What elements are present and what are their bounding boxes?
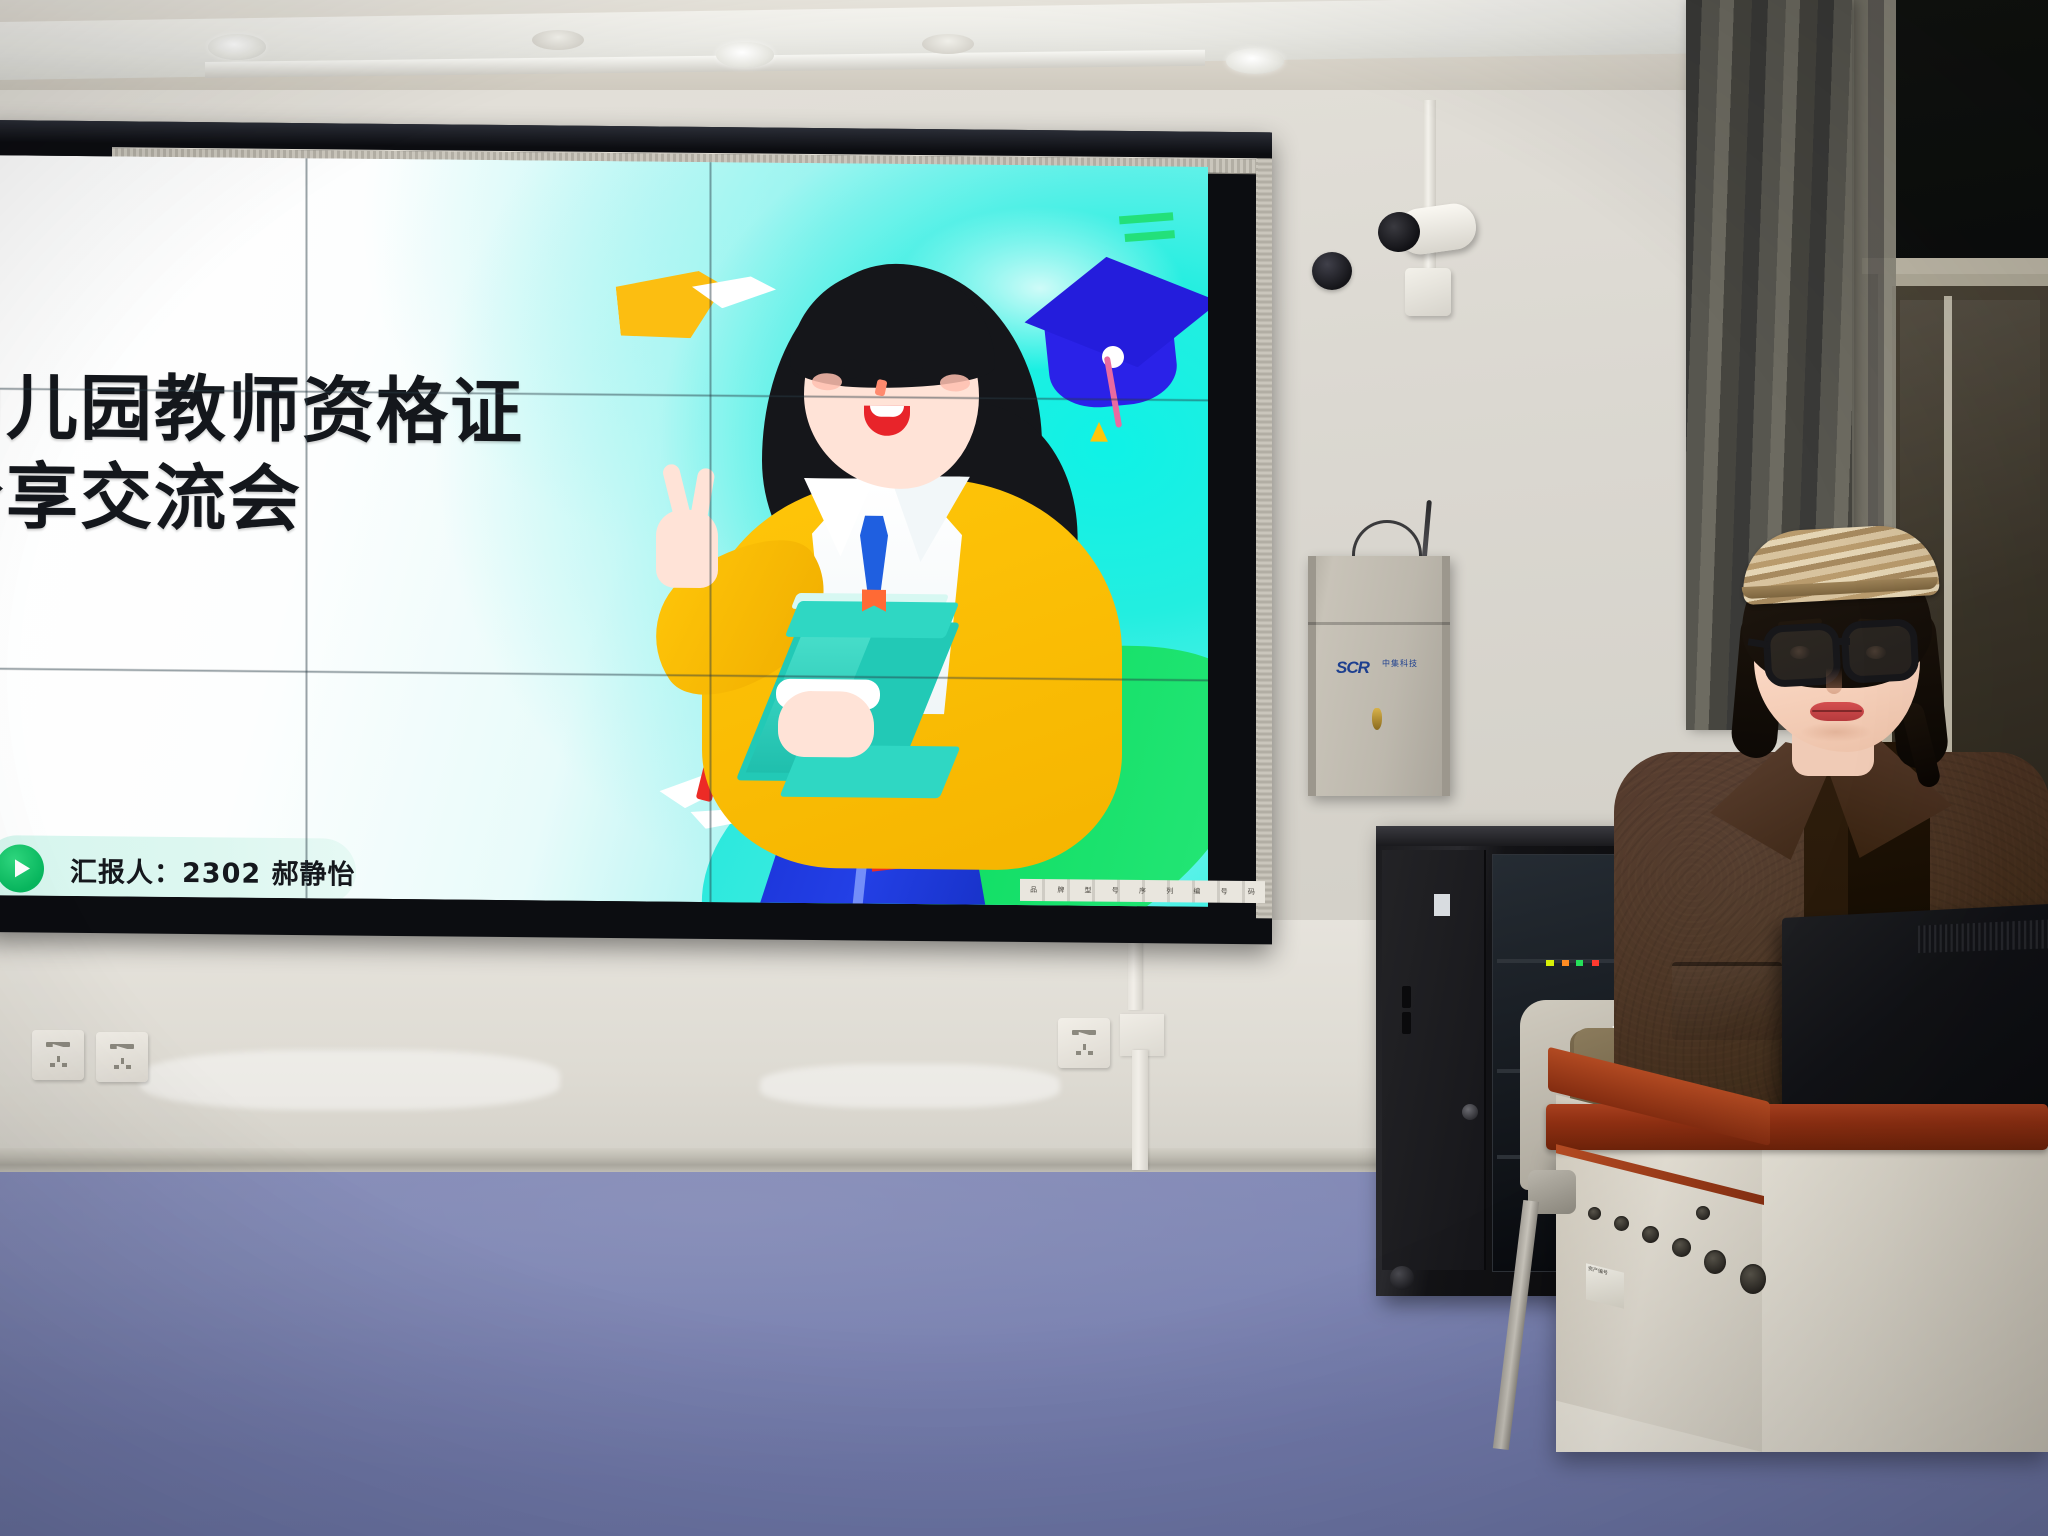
gold-flag-shape — [615, 269, 729, 345]
lectern-vent-hole — [1696, 1206, 1710, 1220]
illustration-eye — [844, 359, 861, 378]
play-icon — [0, 844, 44, 892]
label-mark: 型 — [1085, 885, 1092, 895]
ceiling-downlight — [208, 34, 266, 60]
ceiling-downlight — [1226, 48, 1284, 74]
camera-mount-plate — [1405, 268, 1451, 316]
label-mark: 码 — [1248, 887, 1255, 897]
cable-conduit — [1132, 1050, 1148, 1170]
label-mark: 序 — [1139, 886, 1146, 896]
illustration-hand-holding-book — [778, 691, 874, 758]
lectern-vent-hole — [1672, 1238, 1691, 1257]
lectern-vent-hole — [1614, 1216, 1629, 1231]
wall-socket[interactable] — [1058, 1018, 1110, 1068]
rack-top-panel — [1376, 826, 1626, 846]
cabinet-seam — [1308, 622, 1450, 625]
video-wall-screen[interactable]: 幼儿园教师资格证 分享交流会 汇报人：2302 郝静怡 — [0, 155, 1208, 907]
wall-scuff — [140, 1050, 560, 1110]
illustration-blush — [812, 373, 842, 390]
lower-wall — [0, 920, 1520, 1170]
lectern-vent-hole — [1740, 1264, 1766, 1294]
presenter-coat-pocket — [1672, 962, 1782, 1040]
wall-socket[interactable] — [32, 1030, 84, 1080]
video-wall-mount-side — [1256, 158, 1272, 918]
presenter-chin-shadow — [1800, 722, 1872, 742]
scr-brand-logo-cn: 中集科技 — [1382, 660, 1418, 669]
label-mark: 牌 — [1057, 885, 1064, 895]
scr-brand-logo: SCR — [1336, 658, 1369, 678]
presenter-nose — [1826, 668, 1842, 694]
green-equals-mark — [1119, 212, 1175, 242]
rack-hinge — [1402, 1012, 1411, 1034]
rack-door-latch[interactable] — [1462, 1104, 1478, 1120]
wall-socket[interactable] — [96, 1032, 148, 1082]
cabinet-lock-icon[interactable] — [1372, 708, 1382, 730]
presentation-slide: 幼儿园教师资格证 分享交流会 汇报人：2302 郝静怡 — [0, 155, 1208, 907]
scr-wall-cabinet[interactable]: SCR 中集科技 — [1308, 556, 1450, 796]
rack-hinge — [1402, 986, 1411, 1008]
graduation-tassel-end — [1090, 422, 1108, 442]
video-wall-asset-label: 品 牌 型 号 序 列 编 号 码 — [1020, 879, 1265, 903]
wall-scuff — [760, 1064, 1060, 1108]
rack-caster — [1390, 1266, 1414, 1290]
eyeglasses-lens-right — [1840, 618, 1919, 684]
ceiling-downlight — [716, 42, 774, 68]
presenter-lip-line — [1812, 710, 1862, 712]
rack-asset-tag — [1434, 894, 1450, 916]
slide-illustration — [572, 191, 1208, 907]
baseboard — [0, 1148, 1520, 1174]
monitor-vent — [1918, 919, 2048, 953]
presenter-credit-text: 汇报人：2302 郝静怡 — [70, 849, 356, 891]
ceiling-speaker — [922, 34, 974, 54]
cabinet-edge-left — [1308, 556, 1316, 796]
label-mark: 品 — [1030, 885, 1037, 895]
panel-seam-vertical — [709, 162, 712, 902]
lectern-vent-hole — [1588, 1207, 1601, 1220]
illustration-book-cover — [785, 601, 960, 638]
panel-seam-vertical — [305, 158, 308, 898]
label-mark: 列 — [1166, 886, 1173, 896]
ceiling-speaker — [532, 30, 584, 50]
label-mark: 编 — [1193, 886, 1200, 896]
lectern-vent-hole — [1704, 1250, 1726, 1274]
lectern-wood-top — [1546, 1104, 2048, 1150]
cabinet-edge-right — [1442, 556, 1450, 796]
dome-sensor — [1312, 252, 1352, 290]
classroom-scene: 幼儿园教师资格证 分享交流会 汇报人：2302 郝静怡 品 牌 型 号 序 列 … — [0, 0, 2048, 1536]
presenter-credit-pill: 汇报人：2302 郝静怡 — [0, 835, 356, 905]
rack-status-leds — [1546, 960, 1604, 966]
illustration-blush — [940, 374, 970, 391]
illustration-eye — [906, 360, 923, 379]
eyeglasses-bridge — [1836, 638, 1850, 645]
lectern-vent-hole — [1642, 1226, 1659, 1243]
label-mark: 号 — [1112, 886, 1119, 896]
label-mark: 号 — [1221, 887, 1228, 897]
